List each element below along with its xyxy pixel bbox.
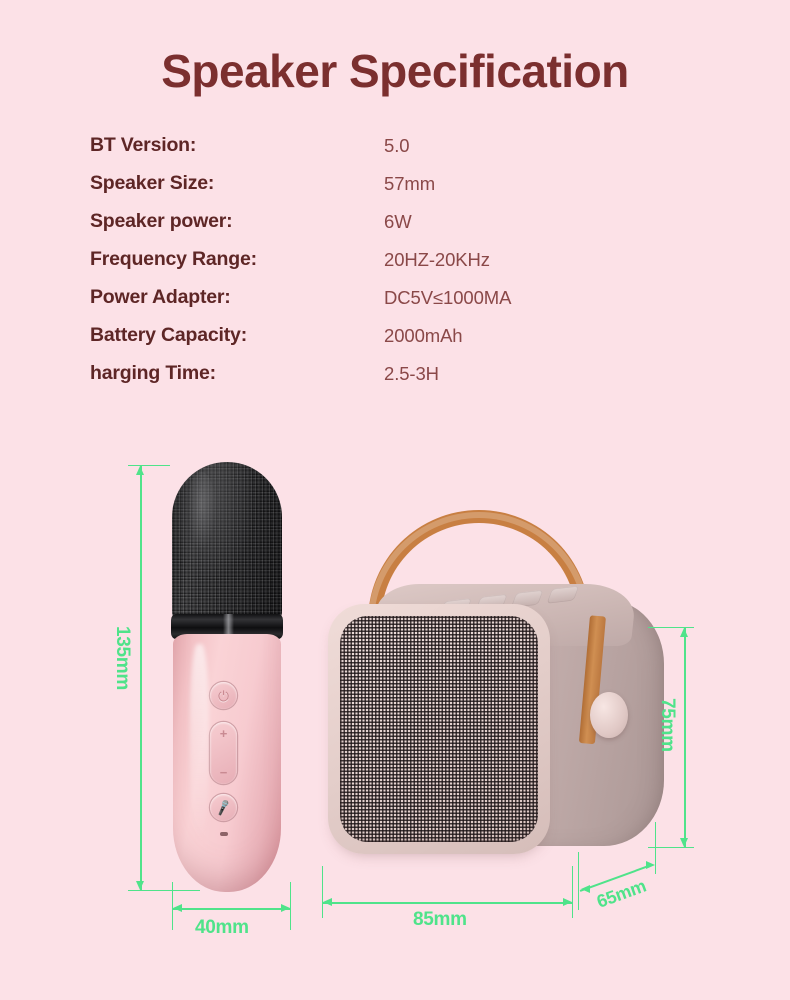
speaker-side-knob[interactable]: [590, 692, 628, 738]
spec-value: 2.5-3H: [384, 363, 439, 385]
power-button[interactable]: ⏻: [210, 682, 237, 709]
top-control-button[interactable]: [546, 586, 579, 604]
page-title: Speaker Specification: [0, 44, 790, 98]
spec-label: Battery Capacity:: [90, 324, 247, 347]
microphone-body: ⏻ + − 🎤: [173, 634, 281, 892]
speaker-front-face: [328, 604, 550, 854]
microphone-icon: 🎤: [214, 799, 232, 815]
spec-row-speaker-size: Speaker Size: 57mm: [90, 172, 650, 210]
spec-value: 57mm: [384, 173, 435, 195]
specification-table: BT Version: 5.0 Speaker Size: 57mm Speak…: [90, 134, 650, 400]
dimension-label-mic-width: 40mm: [195, 917, 249, 939]
spec-value: DC5V≤1000MA: [384, 287, 511, 309]
led-indicator: [220, 832, 228, 836]
spec-row-charging-time: harging Time: 2.5-3H: [90, 362, 650, 400]
spec-label: Frequency Range:: [90, 248, 257, 271]
spec-label: Speaker Size:: [90, 172, 214, 195]
microphone-illustration: ⏻ + − 🎤: [163, 462, 291, 892]
spec-label: Speaker power:: [90, 210, 232, 233]
dimension-label-speaker-width: 85mm: [413, 909, 467, 931]
dimension-label-mic-height: 135mm: [111, 626, 133, 690]
speaker-grille: [340, 616, 538, 842]
spec-value: 6W: [384, 211, 412, 233]
spec-value: 2000mAh: [384, 325, 463, 347]
microphone-mesh-head: [172, 462, 282, 622]
volume-up-icon: +: [220, 727, 228, 740]
spec-row-frequency-range: Frequency Range: 20HZ-20KHz: [90, 248, 650, 286]
spec-label: Power Adapter:: [90, 286, 231, 309]
spec-label: harging Time:: [90, 362, 216, 385]
spec-row-power-adapter: Power Adapter: DC5V≤1000MA: [90, 286, 650, 324]
power-icon: ⏻: [218, 689, 229, 703]
spec-row-bt-version: BT Version: 5.0: [90, 134, 650, 172]
product-spec-page: Speaker Specification BT Version: 5.0 Sp…: [0, 0, 790, 1000]
spec-row-battery-capacity: Battery Capacity: 2000mAh: [90, 324, 650, 362]
spec-value: 20HZ-20KHz: [384, 249, 490, 271]
product-illustration: ⏻ + − 🎤 135mm: [0, 430, 790, 1000]
volume-down-icon: −: [220, 766, 228, 779]
volume-rocker[interactable]: + −: [210, 722, 237, 784]
mic-mute-button[interactable]: 🎤: [210, 794, 237, 821]
spec-row-speaker-power: Speaker power: 6W: [90, 210, 650, 248]
spec-value: 5.0: [384, 135, 409, 157]
speaker-illustration: [318, 510, 670, 900]
spec-label: BT Version:: [90, 134, 196, 157]
dimension-label-speaker-height: 75mm: [656, 698, 678, 752]
